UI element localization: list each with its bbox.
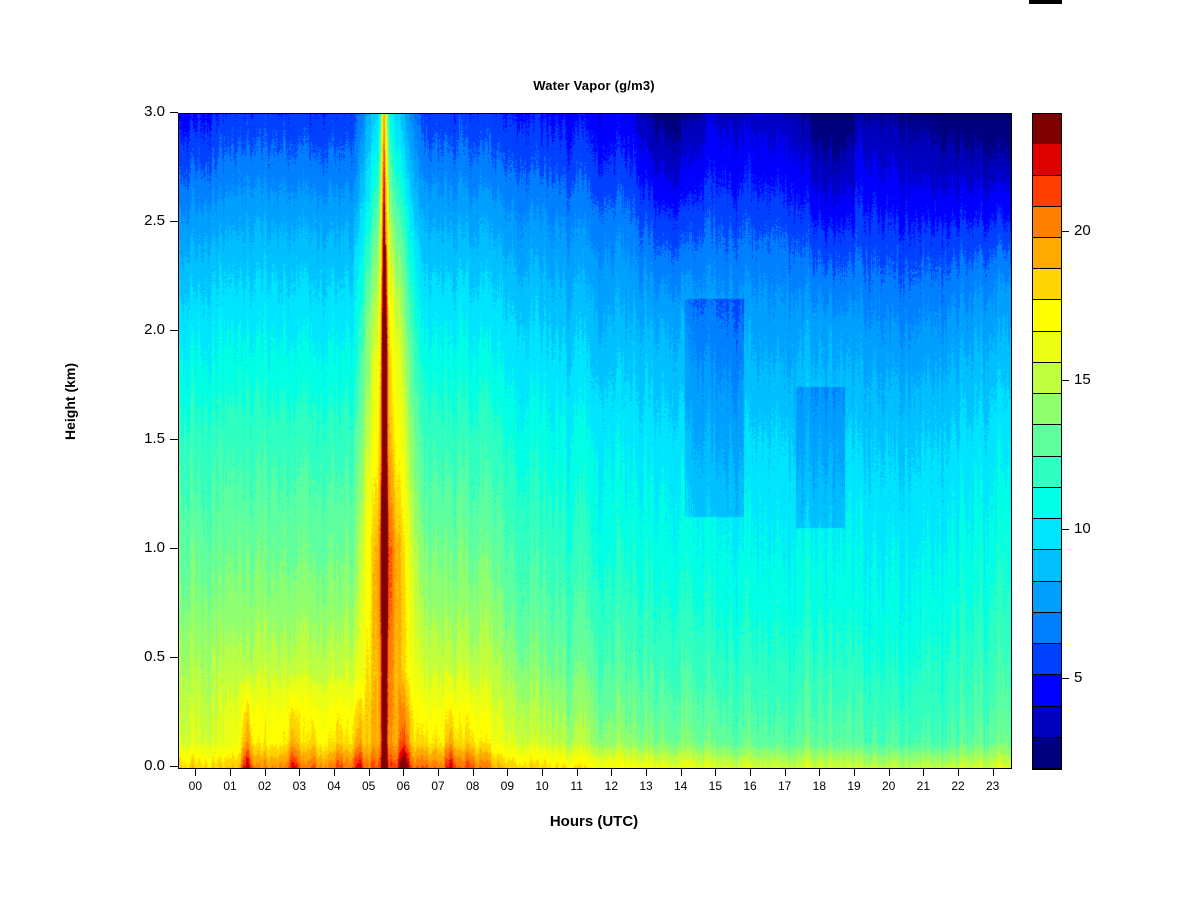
x-tick-label: 18 bbox=[813, 779, 826, 793]
figure-canvas: Water Vapor (g/m3) 0.00.51.01.52.02.53.0… bbox=[0, 0, 1200, 900]
colorbar-block bbox=[1033, 394, 1061, 425]
x-tick-mark bbox=[715, 768, 716, 776]
y-tick-label: 2.5 bbox=[144, 212, 165, 229]
colorbar-tick-label: 20 bbox=[1074, 222, 1091, 239]
colorbar-tick-label: 10 bbox=[1074, 520, 1091, 537]
x-tick-mark bbox=[195, 768, 196, 776]
heatmap-image bbox=[179, 114, 1011, 768]
x-tick-label: 10 bbox=[535, 779, 548, 793]
x-tick-label: 11 bbox=[570, 779, 582, 793]
colorbar-block bbox=[1033, 675, 1061, 706]
x-tick-label: 22 bbox=[951, 779, 964, 793]
x-tick-mark bbox=[958, 768, 959, 776]
y-tick-label: 2.0 bbox=[144, 321, 165, 338]
colorbar-block bbox=[1033, 582, 1061, 613]
colorbar-block bbox=[1033, 269, 1061, 300]
x-tick-mark bbox=[923, 768, 924, 776]
x-tick-mark bbox=[403, 768, 404, 776]
y-tick-label: 3.0 bbox=[144, 103, 165, 120]
x-tick-label: 02 bbox=[258, 779, 271, 793]
x-tick-label: 19 bbox=[847, 779, 860, 793]
colorbar-tick-label: 15 bbox=[1074, 371, 1091, 388]
colorbar-block bbox=[1033, 176, 1061, 207]
x-tick-mark bbox=[785, 768, 786, 776]
x-tick-label: 01 bbox=[223, 779, 236, 793]
colorbar-block bbox=[1033, 238, 1061, 269]
x-tick-label: 04 bbox=[327, 779, 340, 793]
x-tick-mark bbox=[265, 768, 266, 776]
colorbar-block bbox=[1033, 114, 1061, 144]
x-tick-mark bbox=[542, 768, 543, 776]
colorbar-block bbox=[1033, 457, 1061, 488]
x-tick-label: 00 bbox=[189, 779, 202, 793]
x-tick-mark bbox=[369, 768, 370, 776]
colorbar-tick-mark bbox=[1061, 380, 1069, 381]
colorbar-tick-label: 5 bbox=[1074, 669, 1082, 686]
x-tick-mark bbox=[230, 768, 231, 776]
y-tick-mark bbox=[170, 548, 178, 549]
x-tick-label: 03 bbox=[293, 779, 306, 793]
x-tick-mark bbox=[507, 768, 508, 776]
colorbar-block bbox=[1033, 425, 1061, 456]
x-tick-label: 14 bbox=[674, 779, 687, 793]
x-tick-mark bbox=[577, 768, 578, 776]
x-tick-label: 16 bbox=[743, 779, 756, 793]
heatmap-plot-area bbox=[178, 113, 1012, 769]
x-tick-mark bbox=[438, 768, 439, 776]
colorbar bbox=[1032, 113, 1062, 770]
y-tick-mark bbox=[170, 439, 178, 440]
y-tick-label: 1.5 bbox=[144, 430, 165, 447]
colorbar-tick-mark bbox=[1061, 231, 1069, 232]
x-tick-mark bbox=[473, 768, 474, 776]
y-tick-label: 0.5 bbox=[144, 648, 165, 665]
x-tick-label: 05 bbox=[362, 779, 375, 793]
x-tick-mark bbox=[646, 768, 647, 776]
x-tick-label: 09 bbox=[501, 779, 514, 793]
x-tick-label: 20 bbox=[882, 779, 895, 793]
y-tick-mark bbox=[170, 330, 178, 331]
x-tick-label: 07 bbox=[431, 779, 444, 793]
colorbar-tick-mark bbox=[1061, 678, 1069, 679]
y-tick-label: 1.0 bbox=[144, 539, 165, 556]
colorbar-block bbox=[1033, 550, 1061, 581]
colorbar-block bbox=[1033, 644, 1061, 675]
x-tick-label: 23 bbox=[986, 779, 999, 793]
colorbar-block bbox=[1033, 363, 1061, 394]
x-tick-mark bbox=[750, 768, 751, 776]
colorbar-block bbox=[1033, 144, 1061, 175]
colorbar-tick-mark bbox=[1061, 529, 1069, 530]
x-tick-mark bbox=[993, 768, 994, 776]
x-tick-mark bbox=[889, 768, 890, 776]
colorbar-block bbox=[1033, 332, 1061, 363]
x-tick-label: 17 bbox=[778, 779, 791, 793]
x-tick-mark bbox=[299, 768, 300, 776]
colorbar-block bbox=[1033, 613, 1061, 644]
x-tick-label: 15 bbox=[709, 779, 722, 793]
x-tick-mark bbox=[334, 768, 335, 776]
x-tick-label: 06 bbox=[397, 779, 410, 793]
x-tick-label: 12 bbox=[605, 779, 618, 793]
colorbar-block bbox=[1033, 207, 1061, 238]
colorbar-block bbox=[1033, 488, 1061, 519]
y-tick-mark bbox=[170, 221, 178, 222]
colorbar-block bbox=[1033, 707, 1061, 738]
x-tick-mark bbox=[681, 768, 682, 776]
x-tick-mark bbox=[819, 768, 820, 776]
x-tick-label: 08 bbox=[466, 779, 479, 793]
x-tick-label: 21 bbox=[917, 779, 930, 793]
top-clipped-artifact bbox=[1029, 0, 1062, 4]
y-tick-label: 0.0 bbox=[144, 757, 165, 774]
x-tick-mark bbox=[854, 768, 855, 776]
y-axis-title: Height (km) bbox=[62, 363, 78, 440]
page-title: Water Vapor (g/m3) bbox=[178, 78, 1010, 93]
colorbar-block bbox=[1033, 738, 1061, 769]
y-tick-mark bbox=[170, 112, 178, 113]
x-tick-mark bbox=[611, 768, 612, 776]
y-tick-mark bbox=[170, 657, 178, 658]
colorbar-block bbox=[1033, 519, 1061, 550]
x-axis-title: Hours (UTC) bbox=[178, 813, 1010, 830]
colorbar-block bbox=[1033, 300, 1061, 331]
x-tick-label: 13 bbox=[639, 779, 652, 793]
y-tick-mark bbox=[170, 766, 178, 767]
